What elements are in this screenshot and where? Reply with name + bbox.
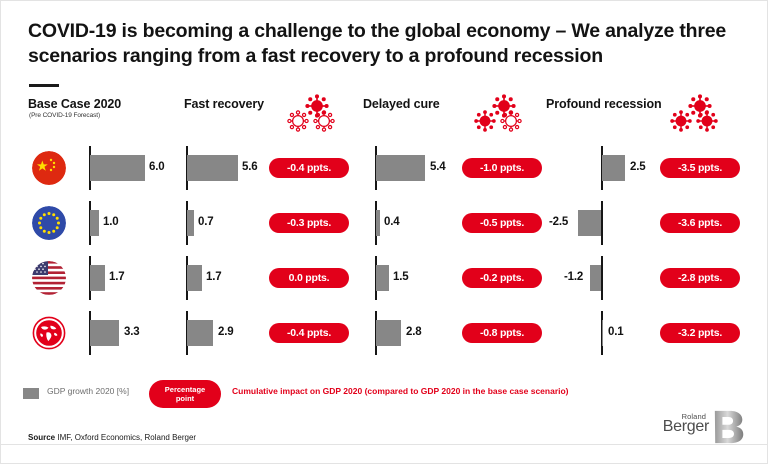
delta-badge-profound-recession: -3.6 ppts. xyxy=(660,213,740,233)
bar-delayed-cure xyxy=(376,155,425,181)
delta-badge-fast-recovery: 0.0 ppts. xyxy=(269,268,349,288)
bar-base-case xyxy=(90,320,119,346)
title-underline-rule xyxy=(29,84,59,87)
legend-percentage-point-badge: Percentage point xyxy=(149,380,221,408)
delta-badge-delayed-cure: -0.2 ppts. xyxy=(462,268,542,288)
table-row: 1.0 0.7 -0.3 ppts. 0.4 -0.5 ppts. -2.5 -… xyxy=(1,196,768,251)
legend-pill-line1: Percentage xyxy=(165,385,205,395)
virus-cluster-profound-recession xyxy=(669,93,731,135)
column-header-fast-recovery: Fast recovery xyxy=(184,97,264,111)
delta-badge-delayed-cure: -0.8 ppts. xyxy=(462,323,542,343)
bar-fast-recovery xyxy=(187,265,202,291)
legend-pill-line2: point xyxy=(165,394,205,404)
source-label: Source xyxy=(28,433,55,442)
bar-delayed-cure xyxy=(376,265,389,291)
bar-value-fast-recovery: 0.7 xyxy=(198,216,213,228)
delta-badge-delayed-cure: -1.0 ppts. xyxy=(462,158,542,178)
bar-base-case xyxy=(90,265,105,291)
bar-fast-recovery xyxy=(187,155,238,181)
bar-value-base-case: 6.0 xyxy=(149,161,164,173)
virus-cluster-delayed-cure xyxy=(473,93,535,135)
delta-badge-delayed-cure: -0.5 ppts. xyxy=(462,213,542,233)
bar-value-profound-recession: -1.2 xyxy=(564,271,583,283)
column-subtitle-base-case: (Pre COVID-19 Forecast) xyxy=(29,112,100,119)
bar-value-fast-recovery: 1.7 xyxy=(206,271,221,283)
bar-profound-recession xyxy=(590,265,601,291)
delta-badge-fast-recovery: -0.4 ppts. xyxy=(269,323,349,343)
bar-value-fast-recovery: 5.6 xyxy=(242,161,257,173)
bar-value-profound-recession: 0.1 xyxy=(608,326,623,338)
bar-value-delayed-cure: 0.4 xyxy=(384,216,399,228)
virus-icon-outline xyxy=(312,109,336,133)
delta-badge-profound-recession: -3.5 ppts. xyxy=(660,158,740,178)
virus-icon-outline xyxy=(499,109,523,133)
source-note: Source IMF, Oxford Economics, Roland Ber… xyxy=(28,433,196,442)
delta-badge-profound-recession: -3.2 ppts. xyxy=(660,323,740,343)
bar-value-delayed-cure: 5.4 xyxy=(430,161,445,173)
bar-profound-recession xyxy=(578,210,601,236)
table-row: 3.3 2.9 -0.4 ppts. 2.8 -0.8 ppts. 0.1 -3… xyxy=(1,306,768,361)
delta-badge-fast-recovery: -0.4 ppts. xyxy=(269,158,349,178)
legend-impact-note: Cumulative impact on GDP 2020 (compared … xyxy=(232,386,569,396)
roland-berger-logo: Roland Berger xyxy=(639,407,749,447)
globe-icon xyxy=(32,316,66,350)
bar-value-delayed-cure: 1.5 xyxy=(393,271,408,283)
bar-value-profound-recession: -2.5 xyxy=(549,216,568,228)
column-header-base-case: Base Case 2020 xyxy=(28,97,121,111)
flag-china xyxy=(32,151,66,185)
axis-line-profound-recession xyxy=(601,201,603,245)
delta-badge-fast-recovery: -0.3 ppts. xyxy=(269,213,349,233)
virus-icon-solid xyxy=(695,109,719,133)
page-title: COVID-19 is becoming a challenge to the … xyxy=(28,19,742,69)
axis-line-profound-recession xyxy=(601,256,603,300)
bar-profound-recession xyxy=(602,320,603,346)
table-row: 6.0 5.6 -0.4 ppts. 5.4 -1.0 ppts. 2.5 -3… xyxy=(1,141,768,196)
source-text: IMF, Oxford Economics, Roland Berger xyxy=(57,433,196,442)
bar-fast-recovery xyxy=(187,210,194,236)
flag-united-states xyxy=(32,261,66,295)
virus-icon-outline xyxy=(286,109,310,133)
bar-value-delayed-cure: 2.8 xyxy=(406,326,421,338)
virus-cluster-fast-recovery xyxy=(286,93,348,135)
bar-profound-recession xyxy=(602,155,625,181)
bar-base-case xyxy=(90,210,99,236)
bar-fast-recovery xyxy=(187,320,213,346)
bar-value-base-case: 1.7 xyxy=(109,271,124,283)
virus-icon-solid xyxy=(669,109,693,133)
legend-bar-label: GDP growth 2020 [%] xyxy=(47,386,129,396)
column-header-profound-recession: Profound recession xyxy=(546,97,662,111)
legend-bar-swatch xyxy=(23,388,39,399)
bar-value-fast-recovery: 2.9 xyxy=(218,326,233,338)
flag-european-union xyxy=(32,206,66,240)
slide-canvas: COVID-19 is becoming a challenge to the … xyxy=(0,0,768,464)
bar-value-base-case: 1.0 xyxy=(103,216,118,228)
logo-berger-text: Berger xyxy=(663,418,709,436)
bar-base-case xyxy=(90,155,145,181)
bar-value-profound-recession: 2.5 xyxy=(630,161,645,173)
table-row: 1.7 1.7 0.0 ppts. 1.5 -0.2 ppts. -1.2 -2… xyxy=(1,251,768,306)
bar-value-base-case: 3.3 xyxy=(124,326,139,338)
virus-icon-solid xyxy=(473,109,497,133)
column-header-delayed-cure: Delayed cure xyxy=(363,97,440,111)
chart-legend: GDP growth 2020 [%] Percentage point Cum… xyxy=(23,382,747,408)
delta-badge-profound-recession: -2.8 ppts. xyxy=(660,268,740,288)
logo-b-mark xyxy=(711,409,749,445)
bar-delayed-cure xyxy=(376,320,401,346)
bar-delayed-cure xyxy=(376,210,380,236)
